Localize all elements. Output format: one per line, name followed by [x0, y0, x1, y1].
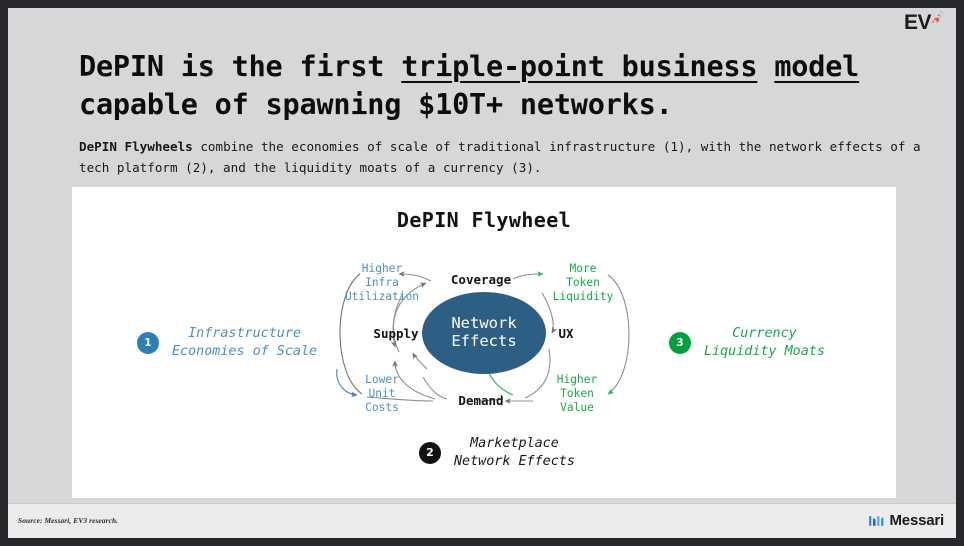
ev-logo-text: EV	[904, 12, 931, 33]
svg-text:Unit: Unit	[369, 387, 396, 400]
messari-mark-icon	[868, 513, 885, 529]
diagram-title: DePIN Flywheel	[72, 208, 896, 232]
svg-text:Token: Token	[566, 276, 600, 289]
messari-wordmark: Messari	[890, 512, 944, 529]
node-supply: Supply	[373, 326, 419, 341]
slide-footer: Source: Messari, EV3 research. Messari	[8, 503, 956, 538]
slide-canvas: EV DePIN is the first triple-point busin…	[8, 8, 956, 538]
node-more-token-liquidity: More Token Liquidity	[553, 262, 614, 303]
page-title: DePIN is the first triple-point business…	[79, 48, 899, 124]
callout-currency: 3 CurrencyLiquidity Moats	[669, 325, 825, 361]
ev-logo: EV	[904, 12, 944, 33]
node-higher-token-value: Higher Token Value	[557, 373, 598, 414]
subtitle-lead: DePIN Flywheels	[79, 139, 193, 154]
node-higher-infra-utilization: Higher Infra Utilization	[345, 262, 419, 303]
rocket-icon	[928, 10, 944, 29]
headline-part-2: capable of spawning $10T+ networks.	[79, 88, 673, 121]
node-coverage: Coverage	[451, 272, 512, 287]
callout-infrastructure: 1 InfrastructureEconomies of Scale	[137, 325, 317, 361]
core-label-line2: Effects	[451, 332, 516, 350]
callout-2-label: MarketplaceNetwork Effects	[454, 435, 575, 471]
callout-1-label: InfrastructureEconomies of Scale	[172, 325, 317, 361]
page-subtitle: DePIN Flywheels combine the economies of…	[79, 137, 924, 178]
svg-text:More: More	[570, 262, 597, 275]
diagram-card: DePIN Flywheel	[72, 187, 896, 498]
source-note: Source: Messari, EV3 research.	[18, 516, 118, 525]
callout-1-badge: 1	[137, 332, 159, 354]
callout-3-badge: 3	[669, 332, 691, 354]
headline-underlined-1: triple-point business	[401, 50, 757, 83]
svg-text:Lower: Lower	[365, 373, 399, 386]
svg-text:Value: Value	[560, 401, 594, 414]
svg-text:Infra: Infra	[365, 276, 399, 289]
svg-text:Token: Token	[560, 387, 594, 400]
svg-text:Liquidity: Liquidity	[553, 290, 614, 303]
svg-text:Higher: Higher	[557, 373, 598, 386]
headline-part-1: DePIN is the first	[79, 50, 401, 83]
node-lower-unit-costs: Lower Unit Costs	[365, 373, 399, 414]
subtitle-rest: combine the economies of scale of tradit…	[79, 139, 921, 175]
svg-text:Costs: Costs	[365, 401, 399, 414]
core-label-line1: Network	[451, 314, 517, 332]
node-ux: UX	[558, 326, 574, 341]
svg-text:Higher: Higher	[362, 262, 403, 275]
depin-flywheel-diagram: Network Effects Coverage Demand Supply U…	[327, 249, 642, 429]
svg-text:Utilization: Utilization	[345, 290, 419, 303]
callout-3-label: CurrencyLiquidity Moats	[704, 325, 825, 361]
messari-logo: Messari	[868, 512, 944, 529]
headline-underlined-2: model	[774, 50, 859, 83]
callout-marketplace: 2 MarketplaceNetwork Effects	[419, 435, 575, 471]
callout-2-badge: 2	[419, 442, 441, 464]
node-demand: Demand	[458, 393, 503, 408]
